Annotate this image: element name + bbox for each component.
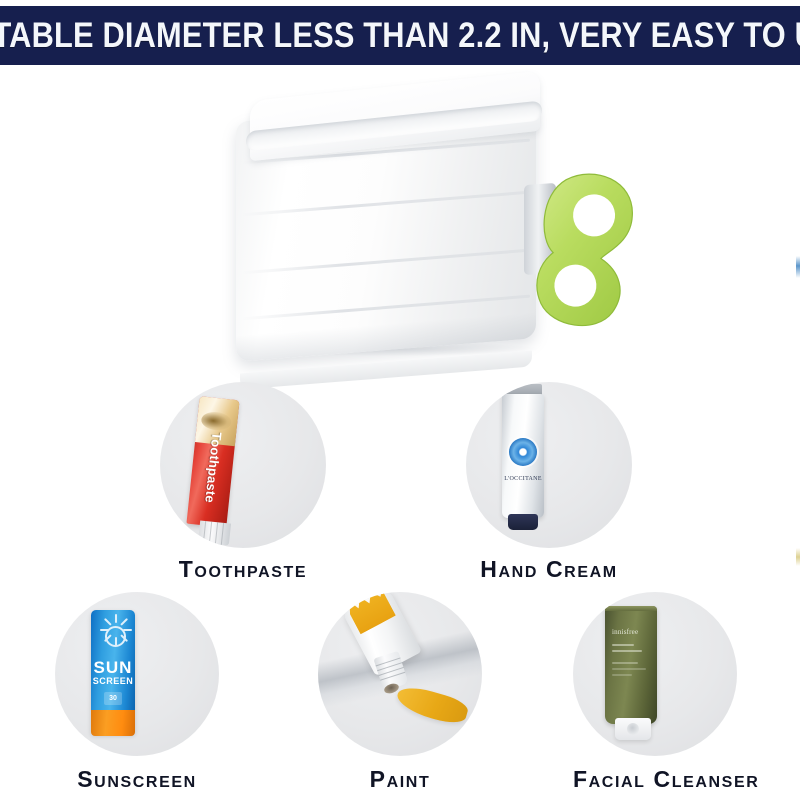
edge-artifact-blue: [796, 256, 800, 278]
facial-cleanser-tube-icon: innisfree: [605, 606, 657, 724]
paint-smear: [394, 683, 470, 728]
sun-icon: [105, 626, 126, 647]
caption-paint: Paint: [318, 766, 482, 793]
hand-cream-tube-label: L'OCCITANE: [502, 476, 544, 482]
facial-cleanser-tube-label: innisfree: [612, 628, 638, 636]
toothpaste-bubble: Toothpaste: [160, 382, 326, 548]
sunscreen-cap: [91, 710, 135, 736]
toothpaste-tube-neck: [198, 520, 231, 545]
headline-text: SUITABLE DIAMETER LESS THAN 2.2 IN, VERY…: [0, 16, 800, 56]
hand-cream-bubble: L'OCCITANE: [466, 382, 632, 548]
use-case-toothpaste: Toothpaste: [160, 382, 326, 548]
facial-cleanser-bubble: innisfree: [573, 592, 737, 756]
hero-product-image: [0, 70, 800, 370]
use-case-hand-cream: L'OCCITANE: [466, 382, 632, 548]
sunscreen-tube-label-bottom: SCREEN: [91, 676, 135, 686]
use-case-sunscreen: SUN SCREEN 30: [55, 592, 219, 756]
use-case-facial-cleanser: innisfree: [573, 592, 737, 756]
hand-cream-base-cap: [508, 514, 538, 530]
hand-cream-tube-icon: L'OCCITANE: [502, 394, 544, 518]
paint-bubble: [318, 592, 482, 756]
caption-sunscreen: Sunscreen: [55, 766, 219, 793]
sunscreen-tube-label-top: SUN: [91, 658, 135, 678]
header-banner: SUITABLE DIAMETER LESS THAN 2.2 IN, VERY…: [0, 4, 800, 68]
sunscreen-bubble: SUN SCREEN 30: [55, 592, 219, 756]
squeezer-illustration: [228, 80, 648, 370]
edge-artifact-yellow: [796, 548, 800, 566]
use-case-paint: [318, 592, 482, 756]
caption-toothpaste: Toothpaste: [160, 556, 326, 583]
caption-hand-cream: Hand Cream: [466, 556, 632, 583]
hand-cream-badge-icon: [509, 438, 537, 466]
caption-facial-cleanser: Facial Cleanser: [573, 766, 737, 793]
spf-badge: 30: [104, 692, 122, 705]
facial-cleanser-flip-cap: [615, 718, 651, 740]
green-figure-eight-key-icon: [519, 162, 644, 334]
toothpaste-tube-icon: Toothpaste: [186, 396, 239, 527]
paint-squeeze-top: [345, 592, 396, 634]
